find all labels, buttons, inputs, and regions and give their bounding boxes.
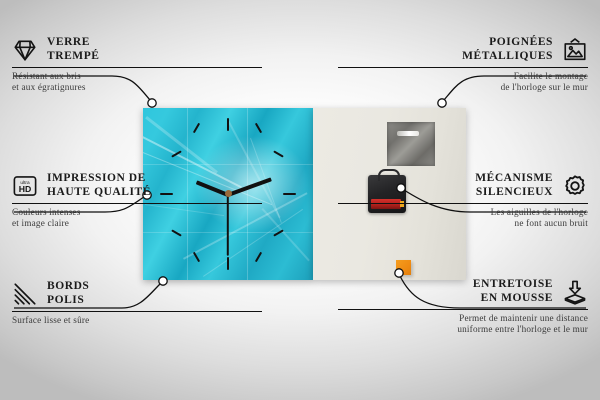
callout-impression-haute-qualite[interactable]: ultra HD IMPRESSION DE HAUTE QUALITÉ Cou… bbox=[12, 172, 262, 229]
callout-subtitle-line2: de l'horloge sur le mur bbox=[338, 82, 588, 93]
callout-subtitle-line2: uniforme entre l'horloge et le mur bbox=[338, 324, 588, 335]
callout-header: BORDS POLIS bbox=[12, 280, 262, 307]
callout-divider bbox=[12, 311, 262, 312]
callout-subtitle-line1: Les aiguilles de l'horloge bbox=[338, 207, 588, 218]
clock-tick bbox=[273, 150, 284, 157]
callout-subtitle-line1: Surface lisse et sûre bbox=[12, 315, 262, 326]
callout-subtitle-line1: Facilite le montage bbox=[338, 71, 588, 82]
callout-divider bbox=[12, 203, 262, 204]
callout-divider bbox=[338, 203, 588, 204]
ultra-hd-badge-icon: ultra HD bbox=[12, 173, 38, 199]
callout-subtitle-line1: Permet de maintenir une distance bbox=[338, 313, 588, 324]
callout-title: ENTRETOISE EN MOUSSE bbox=[473, 278, 553, 305]
metal-hanger-plate bbox=[387, 122, 435, 166]
callout-subtitle-line2: et image claire bbox=[12, 218, 262, 229]
polished-edge-icon bbox=[12, 281, 38, 307]
diamond-icon bbox=[12, 37, 38, 63]
clock-tick bbox=[193, 252, 200, 263]
callout-subtitle-line2: ne font aucun bruit bbox=[338, 218, 588, 229]
picture-frame-hanger-icon bbox=[562, 37, 588, 63]
callout-header: POIGNÉES MÉTALLIQUES bbox=[338, 36, 588, 63]
callout-header: VERRE TREMPÉ bbox=[12, 36, 262, 63]
svg-text:HD: HD bbox=[19, 184, 32, 194]
callout-subtitle-line1: Couleurs intenses bbox=[12, 207, 262, 218]
callout-mecanisme-silencieux[interactable]: MÉCANISME SILENCIEUX Les aiguilles de l'… bbox=[338, 172, 588, 229]
hanger-slot bbox=[397, 131, 419, 136]
clock-tick bbox=[171, 229, 182, 236]
foam-spacer bbox=[396, 260, 411, 275]
gear-icon bbox=[562, 173, 588, 199]
infographic-canvas: VERRE TREMPÉ Résistant aux bris et aux é… bbox=[0, 0, 600, 400]
clock-tick bbox=[255, 123, 262, 134]
clock-tick bbox=[227, 118, 229, 131]
callout-title: POIGNÉES MÉTALLIQUES bbox=[462, 36, 553, 63]
clock-tick bbox=[273, 229, 284, 236]
feather-streak bbox=[262, 208, 310, 261]
callout-header: ultra HD IMPRESSION DE HAUTE QUALITÉ bbox=[12, 172, 262, 199]
callout-divider bbox=[338, 67, 588, 68]
callout-verre-trempe[interactable]: VERRE TREMPÉ Résistant aux bris et aux é… bbox=[12, 36, 262, 93]
callout-entretoise-en-mousse[interactable]: ENTRETOISE EN MOUSSE Permet de maintenir… bbox=[338, 278, 588, 335]
callout-title: BORDS POLIS bbox=[47, 280, 89, 307]
callout-bords-polis[interactable]: BORDS POLIS Surface lisse et sûre bbox=[12, 280, 262, 326]
callout-title: VERRE TREMPÉ bbox=[47, 36, 100, 63]
callout-title: MÉCANISME SILENCIEUX bbox=[475, 172, 553, 199]
panel-seam bbox=[143, 164, 313, 165]
callout-header: ENTRETOISE EN MOUSSE bbox=[338, 278, 588, 305]
clock-tick bbox=[283, 193, 296, 195]
callout-header: MÉCANISME SILENCIEUX bbox=[338, 172, 588, 199]
clock-tick bbox=[227, 257, 229, 270]
clock-tick bbox=[193, 123, 200, 134]
callout-title: IMPRESSION DE HAUTE QUALITÉ bbox=[47, 172, 151, 199]
callout-subtitle-line1: Résistant aux bris bbox=[12, 71, 262, 82]
callout-subtitle-line2: et aux égratignures bbox=[12, 82, 262, 93]
callout-poignees-metalliques[interactable]: POIGNÉES MÉTALLIQUES Facilite le montage… bbox=[338, 36, 588, 93]
down-arrow-pad-icon bbox=[562, 279, 588, 305]
clock-tick bbox=[255, 252, 262, 263]
callout-divider bbox=[12, 67, 262, 68]
callout-divider bbox=[338, 309, 588, 310]
